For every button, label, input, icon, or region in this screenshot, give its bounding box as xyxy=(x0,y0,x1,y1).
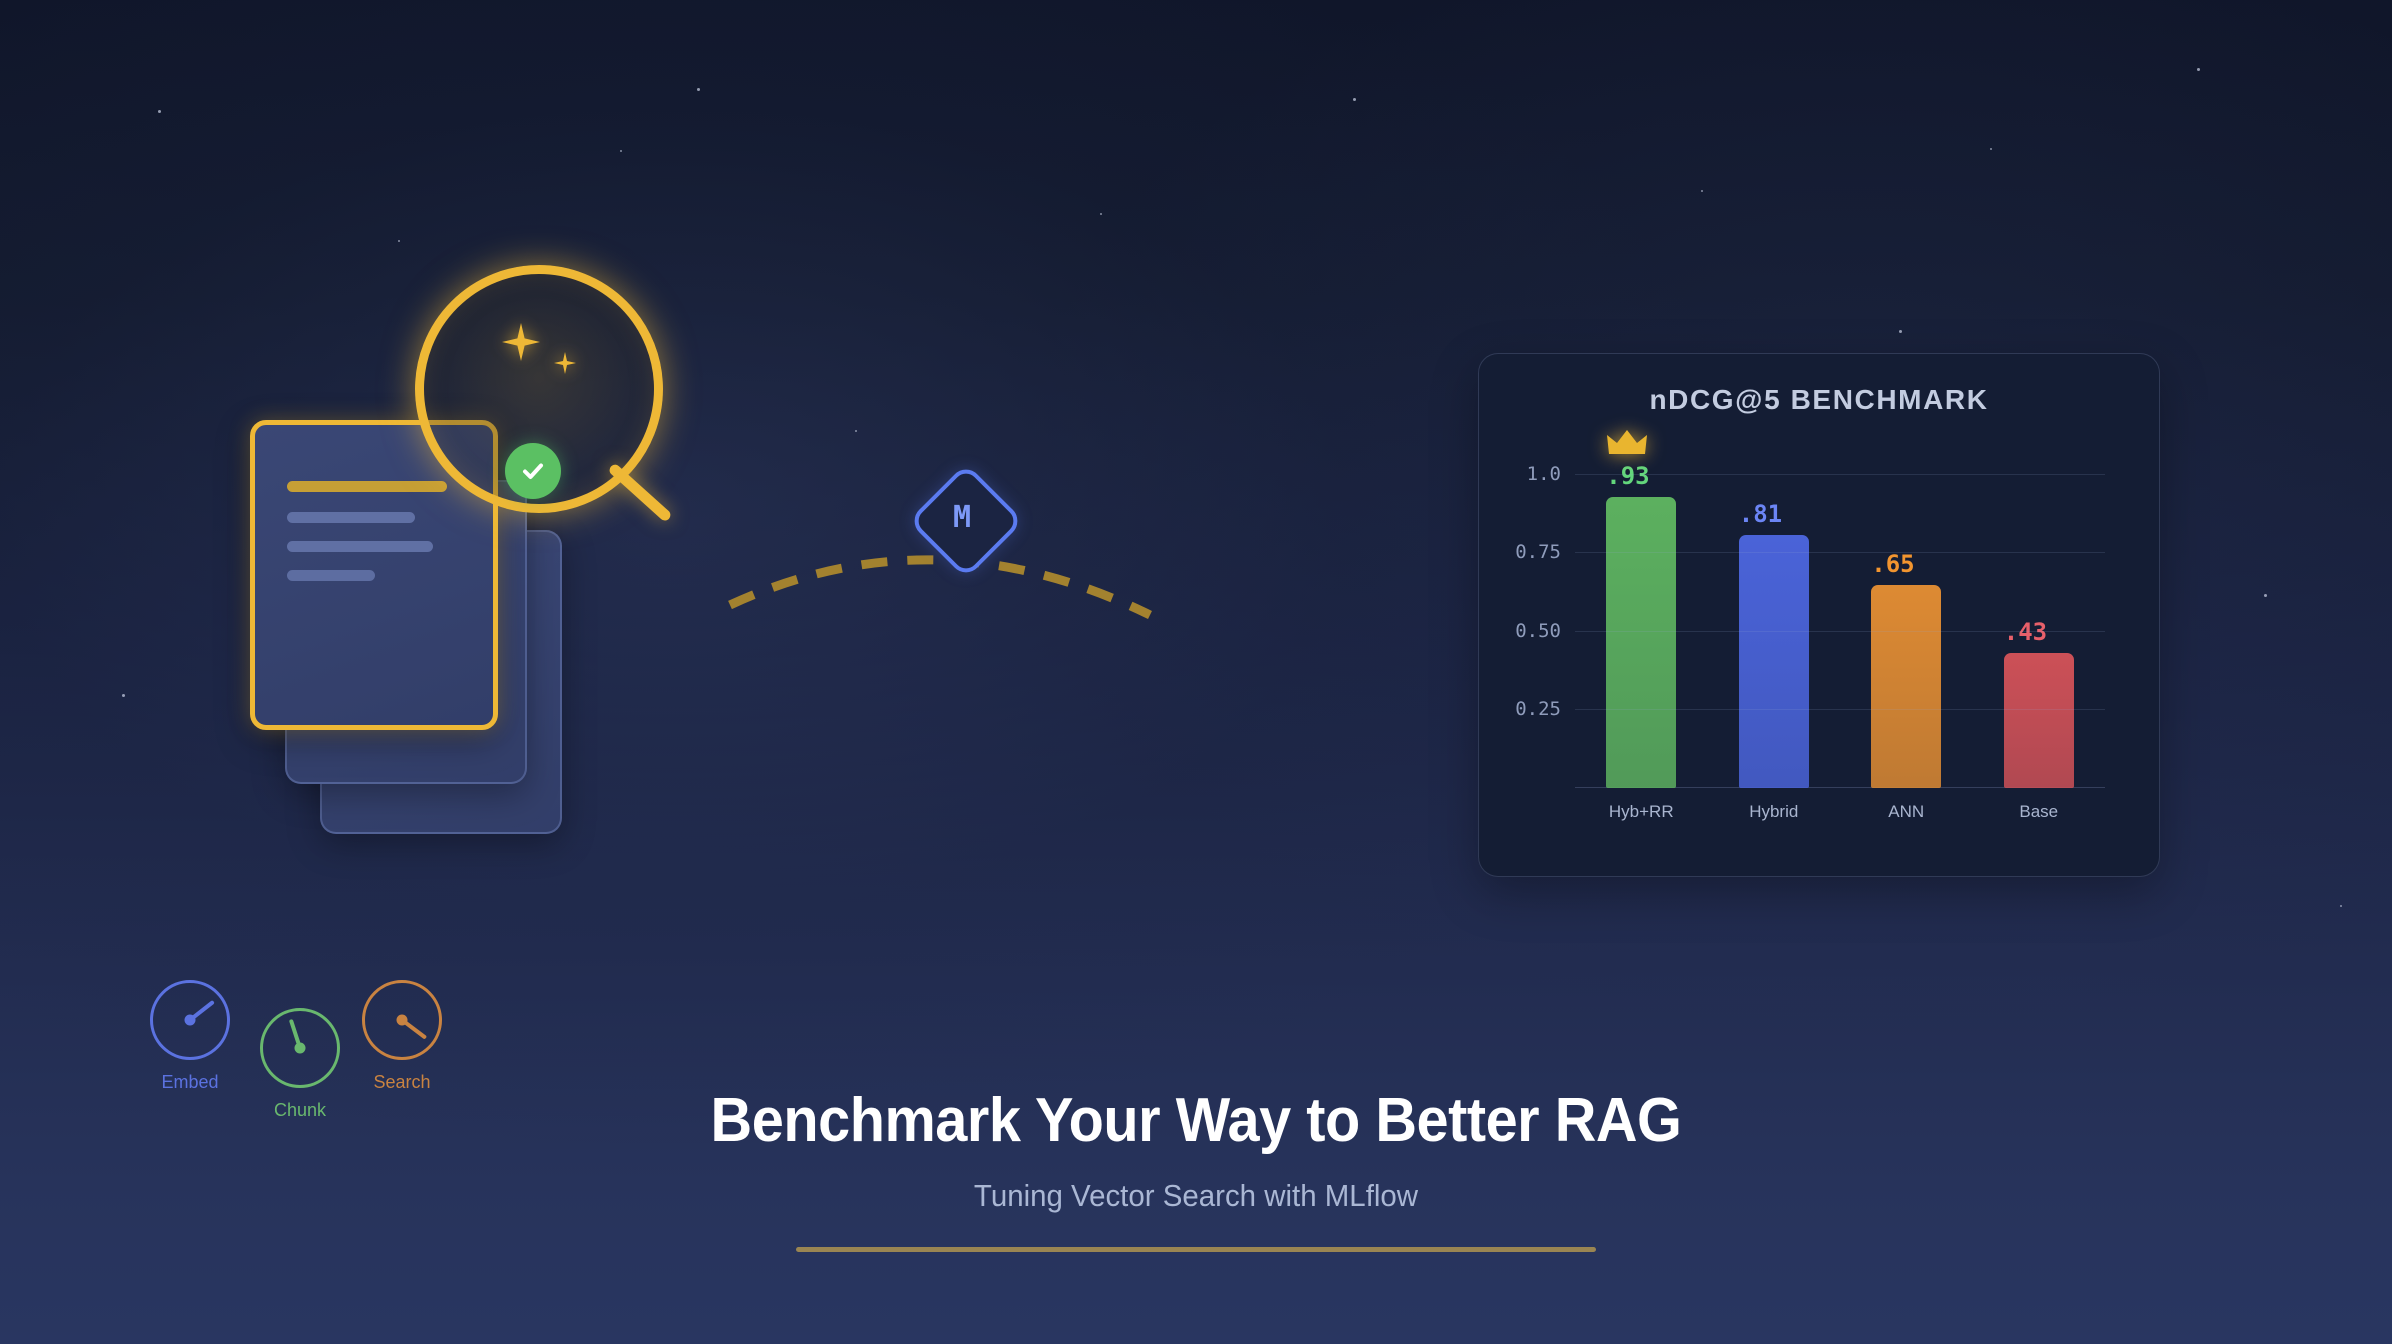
chart-y-tick-label: 0.25 xyxy=(1515,698,1561,720)
pipeline-stage-embed[interactable]: Embed xyxy=(150,980,230,1093)
chart-bar[interactable]: .65 xyxy=(1871,585,1941,788)
document-line xyxy=(287,512,415,523)
gauge-hub xyxy=(397,1015,408,1026)
star-dot xyxy=(158,110,161,113)
star-dot xyxy=(1353,98,1356,101)
star-dot xyxy=(697,88,700,91)
chart-gridline: 0.75 xyxy=(1575,552,2105,553)
star-dot xyxy=(1701,190,1703,192)
star-dot xyxy=(1990,148,1992,150)
gauge-hub xyxy=(185,1015,196,1026)
star-dot xyxy=(2197,68,2200,71)
star-dot xyxy=(2340,905,2342,907)
sparkle-icon xyxy=(500,321,542,363)
star-dot xyxy=(398,240,400,242)
star-dot xyxy=(1899,330,1902,333)
hero-slide: M nDCG@5 BENCHMARK .93Hyb+RR.81Hybrid.65… xyxy=(0,0,2392,1344)
chart-bar[interactable]: .93 xyxy=(1606,497,1676,788)
star-dot xyxy=(1100,213,1102,215)
chart-gridline: 0.50 xyxy=(1575,631,2105,632)
page-subtitle: Tuning Vector Search with MLflow xyxy=(60,1178,2332,1214)
chart-title: nDCG@5 BENCHMARK xyxy=(1479,384,2159,416)
check-circle-icon xyxy=(505,443,561,499)
chart-bar-group[interactable]: .43Base xyxy=(1973,450,2106,788)
document-line xyxy=(287,541,433,552)
chart-category-label: Hybrid xyxy=(1749,802,1798,822)
chart-category-label: Hyb+RR xyxy=(1609,802,1674,822)
pipeline-stage-search[interactable]: Search xyxy=(362,980,442,1093)
star-dot xyxy=(855,430,857,432)
headline-block: Benchmark Your Way to Better RAG Tuning … xyxy=(0,1085,2392,1252)
chart-gridline: 0.25 xyxy=(1575,709,2105,710)
gauge-icon xyxy=(260,1008,340,1088)
chart-bar-group[interactable]: .93Hyb+RR xyxy=(1575,450,1708,788)
gauge-icon xyxy=(362,980,442,1060)
crown-icon xyxy=(1606,429,1648,457)
magnifier-handle xyxy=(607,462,672,522)
chart-category-label: Base xyxy=(2019,802,2058,822)
magnifier-icon xyxy=(415,265,685,535)
chart-bar-group[interactable]: .65ANN xyxy=(1840,450,1973,788)
gauge-icon xyxy=(150,980,230,1060)
chart-value-label: .93 xyxy=(1606,462,1649,490)
chart-category-label: ANN xyxy=(1888,802,1924,822)
title-divider xyxy=(796,1247,1596,1252)
chart-y-tick-label: 1.0 xyxy=(1527,463,1561,485)
chart-value-label: .65 xyxy=(1871,550,1914,578)
document-line xyxy=(287,570,375,581)
gauge-hub xyxy=(295,1043,306,1054)
star-dot xyxy=(620,150,622,152)
chart-value-label: .43 xyxy=(2004,618,2047,646)
star-dot xyxy=(2264,594,2267,597)
chart-plot-area: .93Hyb+RR.81Hybrid.65ANN.43Base 1.00.750… xyxy=(1575,450,2105,788)
page-title: Benchmark Your Way to Better RAG xyxy=(84,1085,2309,1156)
chart-value-label: .81 xyxy=(1739,500,1782,528)
chart-bars: .93Hyb+RR.81Hybrid.65ANN.43Base xyxy=(1575,450,2105,788)
chart-bar[interactable]: .43 xyxy=(2004,653,2074,788)
chart-bar-group[interactable]: .81Hybrid xyxy=(1708,450,1841,788)
mlflow-badge-letter: M xyxy=(925,480,999,554)
star-dot xyxy=(122,694,125,697)
chart-y-tick-label: 0.75 xyxy=(1515,541,1561,563)
benchmark-chart-panel: nDCG@5 BENCHMARK .93Hyb+RR.81Hybrid.65AN… xyxy=(1478,353,2160,877)
chart-gridline: 1.0 xyxy=(1575,474,2105,475)
chart-bar[interactable]: .81 xyxy=(1739,535,1809,789)
sparkle-icon xyxy=(553,351,577,375)
chart-y-tick-label: 0.50 xyxy=(1515,620,1561,642)
